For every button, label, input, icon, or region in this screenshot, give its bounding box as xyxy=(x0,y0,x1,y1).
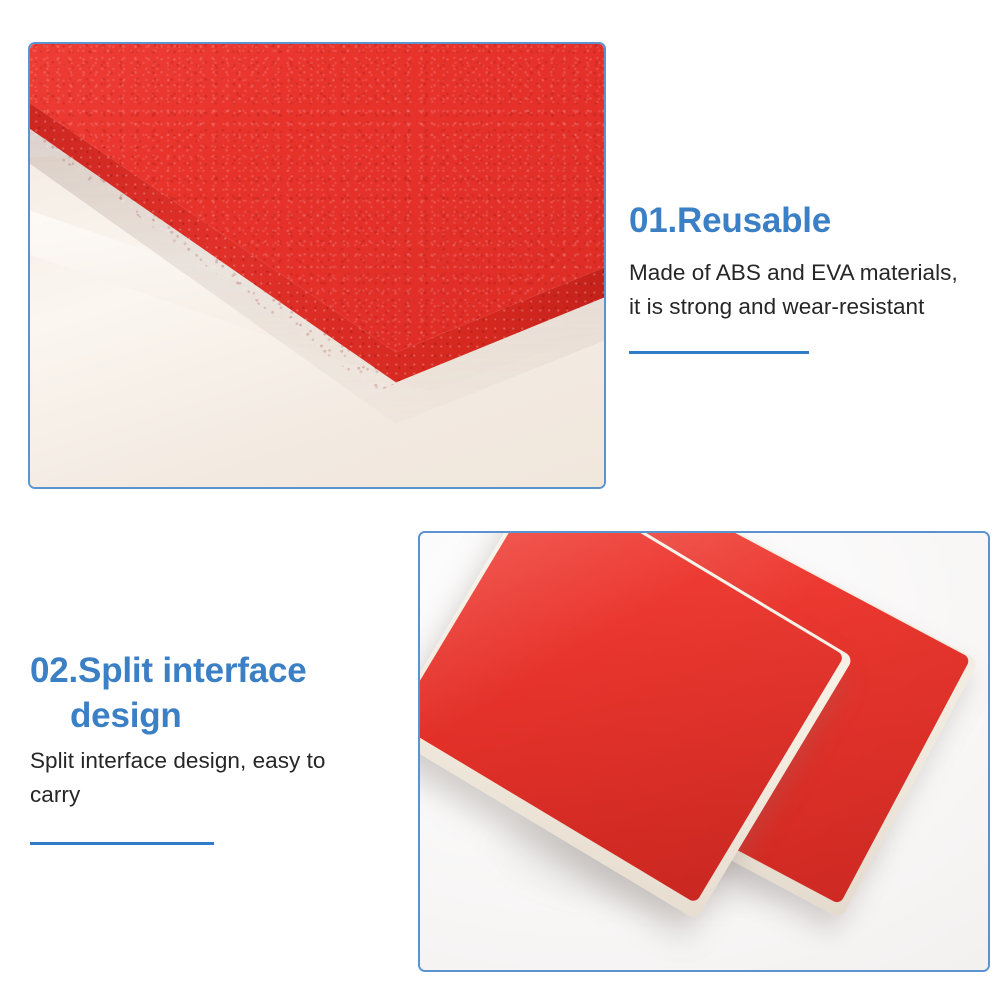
feature-body-02: Split interface design, easy to carry xyxy=(30,744,375,812)
infographic-page: 01.Reusable Made of ABS and EVA material… xyxy=(0,0,1002,1002)
feature-heading-02: 02.Split interface design xyxy=(30,648,375,738)
feature-heading-02-line2: design xyxy=(30,693,375,738)
product-photo-foam-corner xyxy=(30,44,604,487)
accent-underline-02 xyxy=(30,842,214,845)
feature-heading-02-line1: 02.Split interface xyxy=(30,651,307,690)
feature-heading-01: 01.Reusable xyxy=(629,198,959,243)
feature-body-01: Made of ABS and EVA materials, it is str… xyxy=(629,256,959,324)
feature-text-block-01: 01.Reusable Made of ABS and EVA material… xyxy=(629,198,959,354)
feature-text-block-02: 02.Split interface design Split interfac… xyxy=(30,648,375,845)
feature-photo-frame-01 xyxy=(28,42,606,489)
product-photo-stacked-boards xyxy=(420,533,988,970)
accent-underline-01 xyxy=(629,351,809,354)
feature-photo-frame-02 xyxy=(418,531,990,972)
